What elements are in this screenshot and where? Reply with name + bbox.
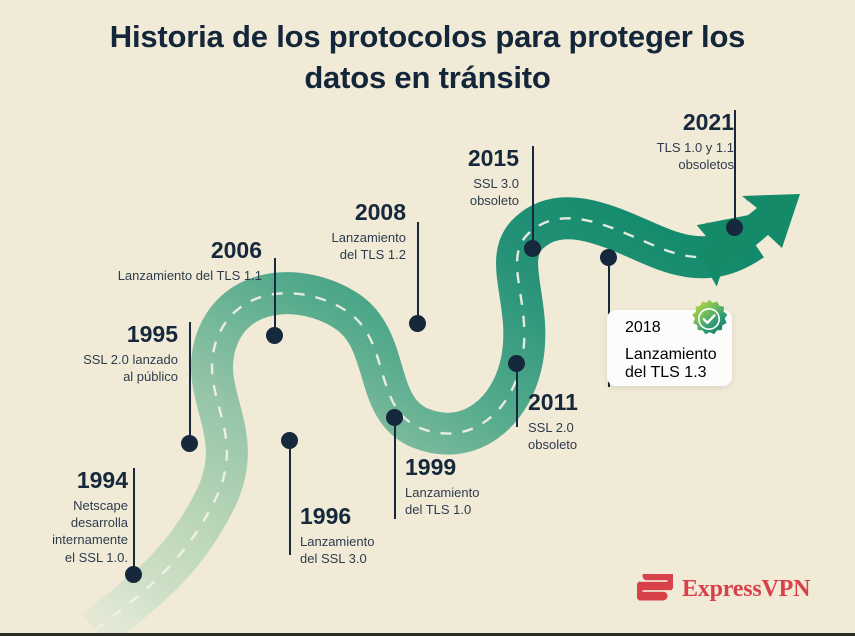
timeline-event-1999: 1999 Lanzamiento del TLS 1.0 bbox=[405, 455, 555, 518]
brand-logo[interactable]: ExpressVPN bbox=[637, 574, 810, 604]
timeline-event-2006: 2006 Lanzamiento del TLS 1.1 bbox=[110, 238, 274, 284]
timeline-event-2008: 2008 Lanzamiento del TLS 1.2 bbox=[262, 200, 418, 263]
verified-check-badge-icon bbox=[688, 298, 730, 340]
event-description: Lanzamiento del TLS 1.1 bbox=[110, 267, 262, 284]
event-year: 1994 bbox=[8, 468, 128, 494]
event-year: 1999 bbox=[405, 455, 555, 481]
event-year: 2011 bbox=[528, 390, 668, 416]
event-year: 2021 bbox=[600, 110, 734, 136]
timeline-infographic: Historia de los protocolos para proteger… bbox=[0, 0, 855, 636]
event-description: Netscape desarrolla internamente el SSL … bbox=[8, 497, 128, 566]
event-year: 1995 bbox=[32, 322, 178, 348]
marker-stem-2011 bbox=[516, 363, 518, 427]
expressvpn-e-logo-icon bbox=[637, 574, 673, 604]
timeline-event-2011: 2011 SSL 2.0 obsoleto bbox=[528, 390, 668, 453]
event-description: Lanzamiento del SSL 3.0 bbox=[300, 533, 450, 568]
marker-stem-2006 bbox=[274, 258, 276, 332]
event-description: SSL 2.0 obsoleto bbox=[528, 419, 668, 454]
event-description: Lanzamiento del TLS 1.0 bbox=[405, 484, 555, 519]
event-description: Lanzamiento del TLS 1.2 bbox=[262, 229, 406, 264]
event-year: 2015 bbox=[385, 146, 519, 172]
event-description: TLS 1.0 y 1.1 obsoletos bbox=[600, 139, 734, 174]
timeline-event-1994: 1994 Netscape desarrolla internamente el… bbox=[8, 468, 138, 566]
timeline-event-2021: 2021 TLS 1.0 y 1.1 obsoletos bbox=[600, 110, 746, 173]
timeline-event-1995: 1995 SSL 2.0 lanzado al público bbox=[32, 322, 190, 385]
brand-name: ExpressVPN bbox=[682, 576, 810, 603]
marker-stem-1996 bbox=[289, 440, 291, 555]
event-year: 2006 bbox=[110, 238, 262, 264]
marker-stem-2015 bbox=[532, 146, 534, 245]
event-description: SSL 2.0 lanzado al público bbox=[32, 351, 178, 386]
event-description: SSL 3.0 obsoleto bbox=[385, 175, 519, 210]
event-year: 2018 bbox=[625, 319, 661, 337]
timeline-event-2015: 2015 SSL 3.0 obsoleto bbox=[385, 146, 531, 209]
event-description: Lanzamiento del TLS 1.3 bbox=[625, 346, 732, 382]
